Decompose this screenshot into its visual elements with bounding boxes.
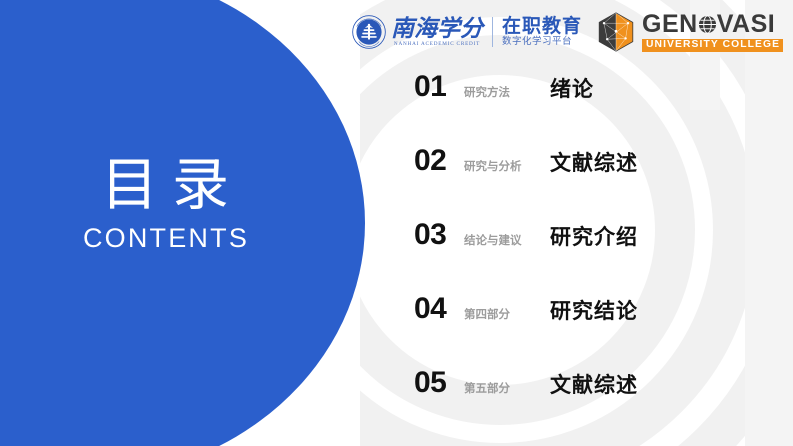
- agenda-subtitle: 研究方法: [464, 84, 542, 100]
- zaizhi-sub: 数字化学习平台: [502, 37, 582, 47]
- agenda-title: 文献综述: [550, 369, 638, 399]
- agenda-subtitle: 结论与建议: [464, 232, 542, 248]
- agenda-item-05[interactable]: 05 第五部分 文献综述: [414, 366, 786, 440]
- agenda-item-03[interactable]: 03 结论与建议 研究介绍: [414, 218, 786, 292]
- genovasi-main-right: VASI: [717, 12, 776, 37]
- logo-divider: [492, 17, 493, 47]
- zaizhi-wordmark: 在职教育 数字化学习平台: [502, 17, 582, 48]
- agenda-number: 04: [414, 292, 464, 326]
- nanhai-seal-icon: [352, 15, 386, 49]
- nanhai-cn: 南海学分: [391, 17, 483, 40]
- agenda-number: 03: [414, 218, 464, 252]
- agenda-subtitle: 研究与分析: [464, 158, 542, 174]
- agenda-title: 研究结论: [550, 295, 638, 325]
- page-title: 目录 CONTENTS: [0, 155, 330, 254]
- agenda-item-02[interactable]: 02 研究与分析 文献综述: [414, 144, 786, 218]
- genovasi-wordmark: GEN VASI UNIVERSITY COLLEGE: [642, 12, 783, 52]
- title-en: CONTENTS: [0, 223, 330, 254]
- agenda-item-01[interactable]: 01 研究方法 绪论: [414, 70, 786, 144]
- agenda-item-04[interactable]: 04 第四部分 研究结论: [414, 292, 786, 366]
- agenda-number: 05: [414, 366, 464, 400]
- agenda-title: 绪论: [550, 73, 594, 103]
- zaizhi-cn: 在职教育: [502, 17, 582, 37]
- agenda-title: 研究介绍: [550, 221, 638, 251]
- genovasi-logo: GEN VASI UNIVERSITY COLLEGE: [596, 11, 783, 53]
- agenda-number: 02: [414, 144, 464, 178]
- agenda-subtitle: 第四部分: [464, 306, 542, 322]
- agenda-subtitle: 第五部分: [464, 380, 542, 396]
- genovasi-sub: UNIVERSITY COLLEGE: [642, 39, 783, 52]
- globe-icon: [698, 15, 717, 34]
- nanhai-wordmark: 南海学分 NANHAI ACEDEMIC CREDIT: [391, 17, 483, 47]
- agenda-number: 01: [414, 70, 464, 104]
- contents-slide: 目录 CONTENTS 南海学分: [0, 0, 793, 446]
- nanhai-en: NANHAI ACEDEMIC CREDIT: [394, 42, 480, 47]
- genovasi-hex-icon: [596, 11, 636, 53]
- agenda-title: 文献综述: [550, 147, 638, 177]
- agenda-list: 01 研究方法 绪论 02 研究与分析 文献综述 03 结论与建议 研究介绍 0…: [414, 70, 786, 440]
- title-cn: 目录: [0, 155, 330, 217]
- nanhai-logo: 南海学分 NANHAI ACEDEMIC CREDIT: [352, 15, 483, 49]
- genovasi-main-left: GEN: [642, 12, 698, 37]
- logo-bar: 南海学分 NANHAI ACEDEMIC CREDIT 在职教育 数字化学习平台: [352, 9, 783, 55]
- genovasi-main: GEN VASI: [642, 12, 783, 37]
